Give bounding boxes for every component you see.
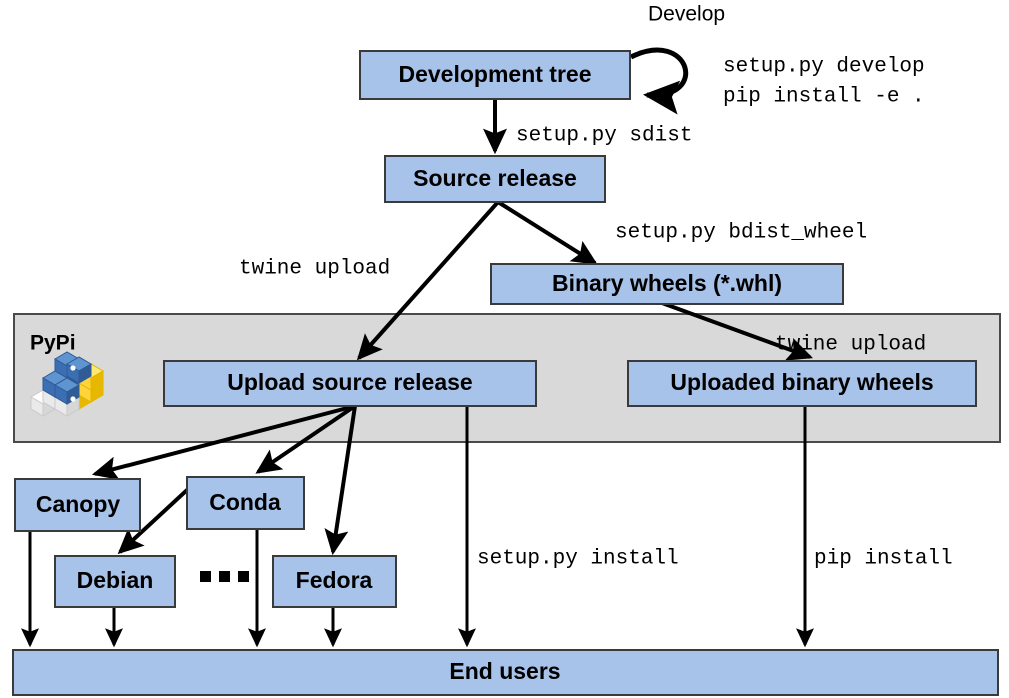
node-development-tree[interactable]: Development tree — [360, 51, 630, 99]
node-binary-wheels[interactable]: Binary wheels (*.whl) — [491, 264, 843, 304]
node-fedora-label: Fedora — [296, 567, 373, 593]
node-debian[interactable]: Debian — [55, 556, 175, 607]
node-source-release[interactable]: Source release — [385, 156, 605, 202]
node-canopy[interactable]: Canopy — [15, 479, 140, 531]
node-end-users[interactable]: End users — [13, 650, 998, 695]
edge-label-develop: Develop — [648, 3, 725, 26]
node-conda[interactable]: Conda — [187, 477, 304, 529]
edge-label-twine-upload-source: twine upload — [239, 258, 390, 281]
node-end-users-label: End users — [449, 658, 560, 684]
node-canopy-label: Canopy — [36, 491, 121, 517]
edge-label-pip-install-editable: pip install -e . — [723, 86, 925, 109]
diagram-canvas: PyPi — [0, 0, 1009, 698]
packaging-flow-diagram: PyPi — [0, 0, 1009, 698]
node-uploaded-binary-wheels[interactable]: Uploaded binary wheels — [628, 361, 976, 406]
edge-label-setup-develop: setup.py develop — [723, 56, 925, 79]
edge-label-setup-bdist-wheel: setup.py bdist_wheel — [615, 222, 867, 245]
edge-source-to-binary-wheels — [498, 202, 595, 263]
node-fedora[interactable]: Fedora — [273, 556, 396, 607]
node-upload-source-release[interactable]: Upload source release — [164, 361, 536, 406]
pypi-panel-title: PyPi — [30, 332, 76, 355]
node-development-tree-label: Development tree — [398, 61, 591, 87]
edge-develop-loop — [631, 50, 686, 95]
ellipsis-dots — [200, 571, 249, 582]
edge-label-setup-sdist: setup.py sdist — [516, 125, 692, 148]
node-source-release-label: Source release — [413, 165, 577, 191]
node-uploaded-binary-wheels-label: Uploaded binary wheels — [670, 369, 933, 395]
node-debian-label: Debian — [77, 567, 154, 593]
node-conda-label: Conda — [209, 489, 281, 515]
node-binary-wheels-label: Binary wheels (*.whl) — [552, 270, 782, 296]
edge-label-pip-install: pip install — [814, 548, 953, 571]
edge-label-setup-install: setup.py install — [477, 548, 679, 571]
edge-label-twine-upload-wheels: twine upload — [775, 334, 926, 357]
node-upload-source-release-label: Upload source release — [227, 369, 472, 395]
